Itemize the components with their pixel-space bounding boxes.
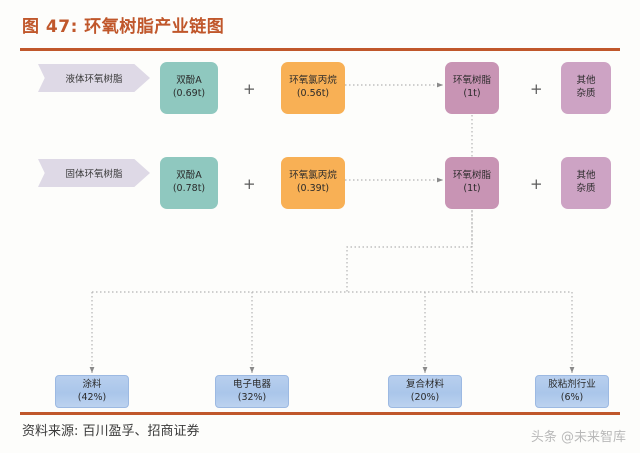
node-application-electronics-share: (32%): [238, 392, 267, 405]
node-ech-solid-name: 环氧氯丙烷: [289, 170, 337, 183]
node-application-coatings: 涂料 (42%): [55, 375, 129, 408]
route-label-solid: 固体环氧树脂: [38, 159, 150, 187]
node-ech-liquid-name: 环氧氯丙烷: [289, 75, 337, 88]
node-impurity-liquid-line1: 其他: [576, 75, 595, 88]
source-note: 资料来源: 百川盈孚、招商证券: [22, 420, 200, 439]
node-impurity-solid-line1: 其他: [576, 170, 595, 183]
plus-row1-inputs: +: [243, 82, 256, 97]
node-resin-solid: 环氧树脂 (1t): [445, 157, 499, 209]
node-bpa-solid-amount: (0.78t): [173, 183, 205, 196]
plus-row2-outputs: +: [530, 177, 543, 192]
figure-title-text: 环氧树脂产业链图: [84, 17, 224, 37]
page-title: 图 47: 环氧树脂产业链图: [22, 12, 224, 37]
node-resin-liquid-amount: (1t): [463, 88, 480, 101]
node-impurity-liquid-line2: 杂质: [576, 88, 595, 101]
node-ech-liquid: 环氧氯丙烷 (0.56t): [281, 62, 345, 114]
route-label-solid-text: 固体环氧树脂: [65, 166, 122, 180]
node-resin-solid-name: 环氧树脂: [453, 170, 491, 183]
node-bpa-solid-name: 双酚A: [176, 170, 202, 183]
footer-divider: [20, 412, 620, 415]
node-application-adhesives-share: (6%): [561, 392, 583, 405]
node-impurity-solid-line2: 杂质: [576, 183, 595, 196]
node-application-electronics: 电子电器 (32%): [215, 375, 289, 408]
route-label-liquid-text: 液体环氧树脂: [65, 71, 122, 85]
node-bpa-liquid-amount: (0.69t): [173, 88, 205, 101]
figure-label: 图 47:: [22, 17, 78, 37]
node-application-composites: 复合材料 (20%): [388, 375, 462, 408]
node-bpa-liquid: 双酚A (0.69t): [160, 62, 218, 114]
title-divider: [20, 48, 620, 51]
node-application-coatings-share: (42%): [78, 392, 107, 405]
plus-row2-inputs: +: [243, 177, 256, 192]
node-application-adhesives: 胶粘剂行业 (6%): [535, 375, 609, 408]
watermark: 头条 @未来智库: [531, 426, 626, 445]
node-ech-liquid-amount: (0.56t): [297, 88, 329, 101]
node-application-composites-share: (20%): [411, 392, 440, 405]
node-resin-liquid: 环氧树脂 (1t): [445, 62, 499, 114]
node-impurity-liquid: 其他 杂质: [561, 62, 611, 114]
node-application-coatings-name: 涂料: [82, 379, 101, 392]
node-bpa-solid: 双酚A (0.78t): [160, 157, 218, 209]
node-impurity-solid: 其他 杂质: [561, 157, 611, 209]
node-resin-liquid-name: 环氧树脂: [453, 75, 491, 88]
route-label-liquid: 液体环氧树脂: [38, 64, 150, 92]
node-bpa-liquid-name: 双酚A: [176, 75, 202, 88]
figure-canvas: 图 47: 环氧树脂产业链图 液体环氧树脂 双酚A (0.69t) +: [0, 0, 640, 453]
node-application-composites-name: 复合材料: [406, 379, 444, 392]
plus-row1-outputs: +: [530, 82, 543, 97]
node-ech-solid: 环氧氯丙烷 (0.39t): [281, 157, 345, 209]
node-ech-solid-amount: (0.39t): [297, 183, 329, 196]
node-resin-solid-amount: (1t): [463, 183, 480, 196]
node-application-electronics-name: 电子电器: [233, 379, 271, 392]
node-application-adhesives-name: 胶粘剂行业: [548, 379, 596, 392]
